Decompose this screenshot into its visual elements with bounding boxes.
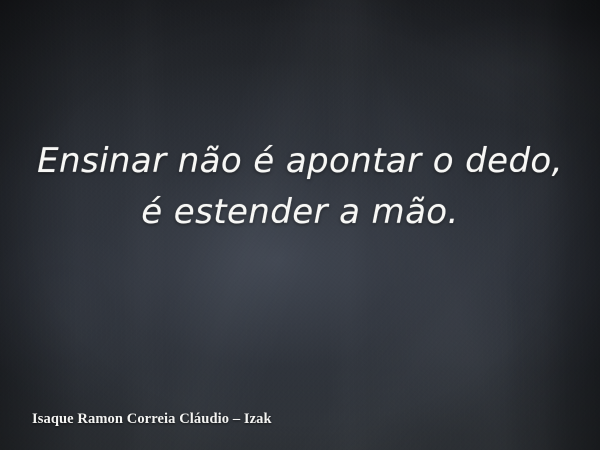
quote-text: Ensinar não é apontar o dedo, é estender… bbox=[0, 136, 600, 238]
quote-card: Ensinar não é apontar o dedo, é estender… bbox=[0, 0, 600, 450]
quote-attribution: Isaque Ramon Correia Cláudio – Izak bbox=[32, 410, 272, 428]
